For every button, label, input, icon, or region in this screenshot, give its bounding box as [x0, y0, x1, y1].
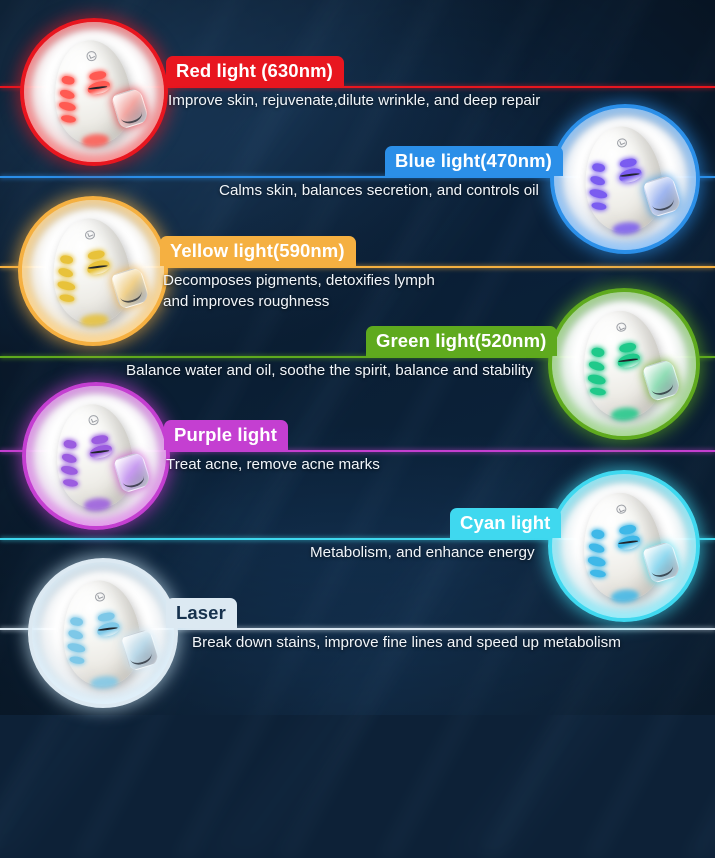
- badge-green[interactable]: Green light(520nm): [366, 326, 557, 356]
- mask-face: [579, 308, 666, 421]
- mask-ring: [28, 558, 178, 708]
- led-mask-yellow: [18, 196, 168, 346]
- description-red: Improve skin, rejuvenate,dilute wrinkle,…: [168, 90, 540, 111]
- badge-yellow[interactable]: Yellow light(590nm): [160, 236, 356, 266]
- badge-red[interactable]: Red light (630nm): [166, 56, 344, 86]
- description-yellow: Decomposes pigments, detoxifies lymph an…: [163, 270, 435, 312]
- mask-ring: [22, 382, 170, 530]
- mask-ring: [548, 288, 700, 440]
- led-mask-red: [20, 18, 168, 166]
- description-blue: Calms skin, balances secretion, and cont…: [219, 180, 539, 201]
- badge-laser[interactable]: Laser: [166, 598, 237, 628]
- mask-face: [52, 401, 136, 511]
- mask-ring: [550, 104, 700, 254]
- led-mask-blue: [550, 104, 700, 254]
- mask-face: [581, 123, 667, 234]
- mask-face: [50, 37, 134, 147]
- led-mask-green: [548, 288, 700, 440]
- led-mask-cyan: [548, 470, 700, 622]
- badge-blue[interactable]: Blue light(470nm): [385, 146, 563, 176]
- description-green: Balance water and oil, soothe the spirit…: [126, 360, 533, 381]
- mask-logo-icon: [88, 415, 99, 425]
- led-mask-laser: [28, 558, 178, 708]
- description-purple: Treat acne, remove acne marks: [166, 454, 380, 475]
- mask-face: [579, 490, 666, 603]
- mask-face: [59, 577, 145, 688]
- description-laser: Break down stains, improve fine lines an…: [192, 632, 621, 653]
- light-mode-list: Red light (630nm)Improve skin, rejuvenat…: [0, 0, 715, 715]
- mask-logo-icon: [86, 51, 97, 61]
- mask-face: [49, 215, 135, 326]
- badge-purple[interactable]: Purple light: [164, 420, 288, 450]
- badge-cyan[interactable]: Cyan light: [450, 508, 561, 538]
- mask-ring: [548, 470, 700, 622]
- led-mask-purple: [22, 382, 170, 530]
- mask-ring: [18, 196, 168, 346]
- description-cyan: Metabolism, and enhance energy: [310, 542, 535, 563]
- mask-ring: [20, 18, 168, 166]
